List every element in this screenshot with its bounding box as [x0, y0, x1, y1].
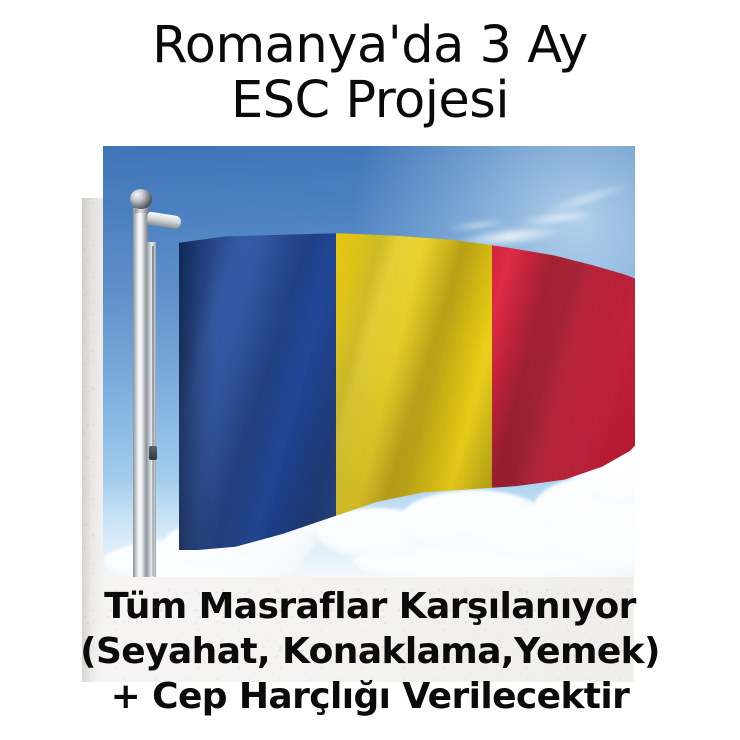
flagpole [133, 208, 148, 577]
flag-hoist-shadow [179, 230, 215, 550]
title-line-1: Romanya'da 3 Ay [0, 18, 740, 73]
caption-line-1: Tüm Masraflar Karşılanıyor [0, 584, 740, 629]
ball-finial-icon [130, 189, 152, 209]
flag-photograph [103, 146, 635, 577]
caption-line-2: (Seyahat, Konaklama,Yemek) [0, 629, 740, 674]
poster-title: Romanya'da 3 Ay ESC Projesi [0, 18, 740, 128]
caption-line-3: + Cep Harçlığı Verilecektir [0, 674, 740, 719]
poster-caption: Tüm Masraflar Karşılanıyor (Seyahat, Kon… [0, 584, 740, 719]
halyard-rope [152, 246, 154, 576]
title-line-2: ESC Projesi [0, 73, 740, 128]
halyard-clip [149, 446, 157, 460]
poster-canvas: Romanya'da 3 Ay ESC Projesi [0, 0, 740, 740]
